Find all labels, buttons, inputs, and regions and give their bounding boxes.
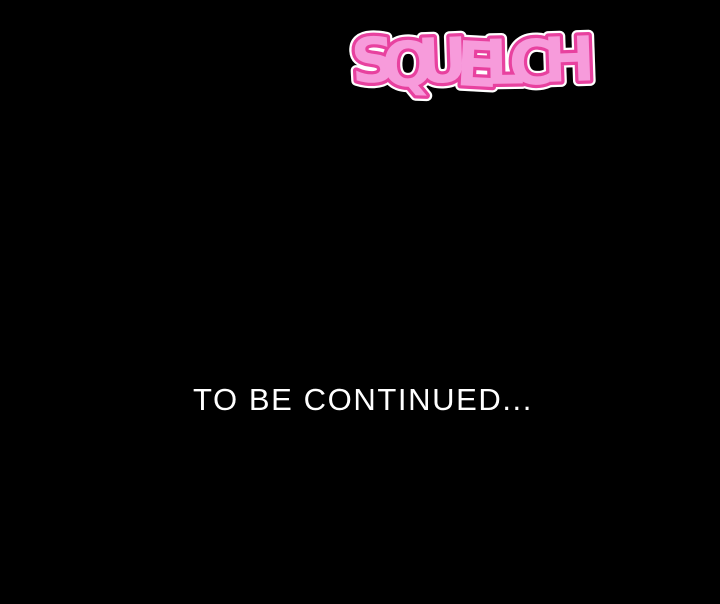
comic-panel: S Q U E L C H TO BE CONTINUED... (0, 0, 720, 604)
sfx-pink-fill-layer (349, 22, 594, 102)
to-be-continued-caption: TO BE CONTINUED... (0, 382, 720, 418)
sound-effect-squelch: S Q U E L C H (0, 26, 720, 96)
sfx-white-stroke-layer (349, 22, 594, 102)
sfx-magenta-outline-layer (349, 22, 594, 102)
